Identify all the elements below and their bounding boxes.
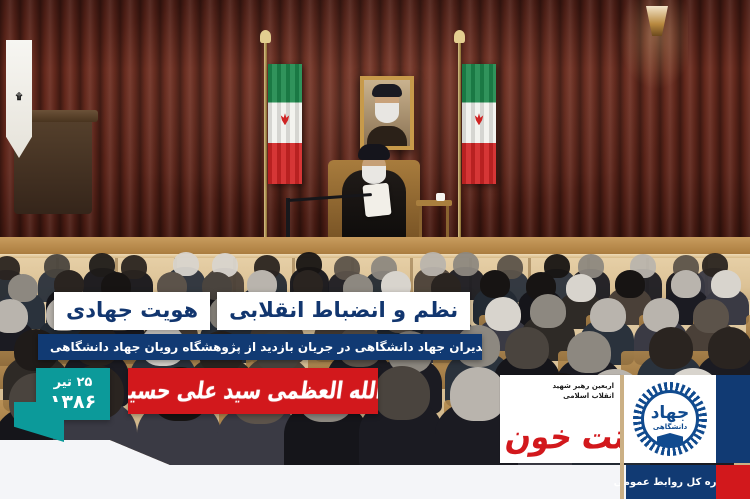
audience-head	[0, 299, 28, 333]
iran-flag-left	[268, 64, 302, 184]
headline-segment-left: نظم و انضباط انقلابی	[217, 292, 470, 330]
audience-head	[567, 331, 611, 373]
headline-segment-right: هویت جهادی	[54, 292, 210, 330]
audience-head	[485, 297, 521, 331]
poster-root: ۩ نظم و انضباط انقلابی هویت جهادی بیانات…	[0, 0, 750, 499]
audience-head	[671, 270, 701, 298]
iran-flag-right	[462, 64, 496, 184]
footer-public-relations: اداره کل روابط عمومی	[626, 465, 716, 499]
blue-side-tab	[716, 375, 750, 463]
calligraphy-name-band: حضرت آیت الله العظمی سید علی حسینی خامنه…	[128, 368, 378, 414]
banner-emblem-icon: ۩	[9, 92, 29, 138]
audience-head	[530, 294, 566, 328]
calligraphy-text: حضرت آیت الله العظمی سید علی حسینی خامنه…	[128, 377, 378, 405]
headline-row: نظم و انضباط انقلابی هویت جهادی	[54, 292, 470, 330]
audience-head	[615, 270, 645, 298]
white-ceremonial-banner: ۩	[6, 40, 32, 158]
flag-finial-icon	[454, 30, 465, 43]
speaker-turban	[358, 144, 390, 160]
audience-head	[374, 366, 430, 420]
flag-pole	[458, 36, 461, 254]
date-day-month: ۲۵ تیر	[54, 376, 93, 389]
flag-finial-icon	[260, 30, 271, 43]
footer-red-block	[716, 465, 750, 499]
portrait-turban	[372, 84, 402, 97]
jahad-sub: دانشگاهی	[653, 424, 687, 431]
audience-head	[566, 274, 596, 302]
logo-divider	[620, 375, 624, 499]
audience-head	[453, 252, 479, 276]
audience-head	[708, 327, 750, 369]
audience-head	[590, 298, 626, 332]
jahad-name: جهاد	[651, 405, 690, 422]
logo-caption: اربعین رهبر شهید انقلاب اسلامی	[552, 381, 614, 401]
logo-jahad-daneshgahi: جهاد دانشگاهی	[624, 375, 716, 463]
water-glass-icon	[436, 193, 445, 201]
flag-pole	[264, 36, 267, 254]
audience-head	[505, 327, 549, 369]
seated-speaker	[336, 140, 412, 245]
logo-caption-line1: اربعین رهبر شهید	[552, 381, 614, 391]
speaker-papers	[362, 183, 391, 218]
framed-portrait	[360, 76, 414, 150]
portrait-beard	[375, 103, 399, 123]
audience-head	[711, 270, 741, 298]
speaker-beard	[362, 166, 386, 184]
logo-caption-line2: انقلاب اسلامی	[552, 391, 614, 401]
audience-head	[649, 327, 693, 369]
subtitle-bar: بیانات در جمع اعضا و مدیران جهاد دانشگاه…	[38, 334, 482, 360]
audience-head	[8, 274, 38, 302]
audience-head	[450, 367, 506, 421]
logo-baesat-khoon: اربعین رهبر شهید انقلاب اسلامی بعثت خون	[500, 375, 620, 463]
jahad-gear-emblem-icon: جهاد دانشگاهی	[633, 382, 707, 456]
footer-white-strip	[0, 465, 626, 499]
audience-head	[480, 270, 510, 298]
